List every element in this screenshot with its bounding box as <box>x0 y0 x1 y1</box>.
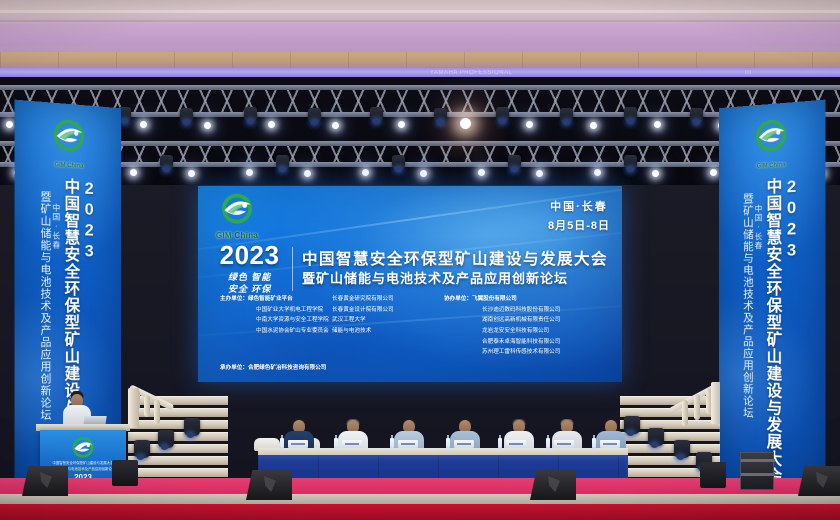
moving-head-light <box>370 107 383 122</box>
moving-head-light <box>392 155 405 170</box>
event-headline-1: 中国智慧安全环保型矿山建设与发展大会 <box>302 251 608 269</box>
stage-spotlight <box>362 169 369 176</box>
screen-title-row: 2023 绿色 智能 安全 环保 中国智慧安全环保型矿山建设与发展大会 暨矿山储… <box>216 242 608 295</box>
stage-side-box <box>112 460 138 486</box>
stage-monitor-speaker <box>22 466 68 496</box>
stage-spotlight <box>526 121 533 128</box>
right-banner-text: 2023 中国智慧安全环保型矿山建设与发展大会 中国·长春 暨矿山储能与电池技术… <box>719 175 826 494</box>
stage-spotlight <box>654 121 661 128</box>
moving-head-light <box>160 155 173 170</box>
name-card <box>454 440 474 448</box>
gim-swoosh-icon <box>70 436 96 462</box>
dark-hall-area <box>0 77 840 190</box>
truss-rail-bottom <box>0 162 840 167</box>
water-bottle <box>546 438 550 449</box>
moving-head-light <box>308 108 321 123</box>
equipment-road-case <box>740 452 774 490</box>
led-strip-text-right: III <box>745 69 752 77</box>
stage-spotlight <box>6 121 13 128</box>
upper-wall-band <box>0 52 840 68</box>
stage-moving-light <box>674 440 690 458</box>
stage-spotlight <box>590 122 597 129</box>
screen-place-date: 中国·长春 8月5日-8日 <box>548 198 610 233</box>
left-staircase <box>128 382 228 477</box>
host-item: 绿色智能矿业平台 <box>248 296 293 302</box>
cohost-item: 龙岩龙安安全科技有限公司 <box>444 326 594 337</box>
stage-monitor-speaker <box>246 470 292 500</box>
moving-head-light <box>496 107 509 122</box>
stage-moving-light <box>134 440 150 458</box>
cohost-label: 协办单位：飞翼股份有限公司 <box>444 294 594 305</box>
event-city: 中国·长春 <box>548 198 610 214</box>
water-bottle <box>592 438 596 449</box>
cohost-label-text: 协办单位： <box>444 296 472 302</box>
ceiling-molding-line <box>0 10 840 13</box>
stage-spotlight <box>398 121 405 128</box>
host-label-text: 主办单位： <box>220 296 248 302</box>
cohost-item: 飞翼股份有限公司 <box>472 296 517 302</box>
organizer-row: 承办单位：合肥绿色矿冶科技咨询有限公司 <box>220 363 608 374</box>
stage-monitor-speaker <box>530 470 576 500</box>
banner-logo-right: GIM China <box>745 116 797 170</box>
host-column-2: 长春黄金研究院有限公司 长春黄金设计院有限公司 武汉工程大学 储能与电池技术 <box>332 294 444 358</box>
event-date: 8月5日-8日 <box>548 217 610 233</box>
screen-headlines: 中国智慧安全环保型矿山建设与发展大会 暨矿山储能与电池技术及产品应用创新论坛 <box>302 251 608 287</box>
ceiling-purple-glow <box>0 24 840 46</box>
right-banner-place: 中国·长春 <box>754 178 762 489</box>
host-item: 长春黄金设计院有限公司 <box>332 305 444 316</box>
right-banner-headline-2: 暨矿山储能与电池技术及产品应用创新论坛 <box>742 179 752 489</box>
cohost-item: 长沙迪迈数码科技股份有限公司 <box>444 305 594 316</box>
water-bottle <box>280 438 284 449</box>
moving-head-light <box>180 108 193 123</box>
conference-stage-scene: YAMAHA PROFESSIONAL III <box>0 0 840 520</box>
stage-monitor-speaker <box>798 466 840 496</box>
moving-head-light <box>624 155 637 170</box>
right-vertical-banner: GIM China 2023 中国智慧安全环保型矿山建设与发展大会 中国·长春 … <box>719 100 826 499</box>
stage-spotlight <box>130 169 137 176</box>
moving-head-light <box>624 107 637 122</box>
stage-spotlight <box>710 169 717 176</box>
screen-year-block: 2023 绿色 智能 安全 环保 <box>216 242 283 295</box>
stage-spotlight <box>188 170 195 177</box>
cohost-item: 合肥泰禾卓海智能科技有限公司 <box>444 337 594 348</box>
name-card <box>600 440 620 448</box>
moving-head-light <box>276 155 289 170</box>
stage-spotlight <box>246 169 253 176</box>
right-banner-headline-1: 中国智慧安全环保型矿山建设与发展大会 <box>764 178 780 491</box>
name-card <box>288 440 308 448</box>
banner-logo-cn-left: China <box>67 163 83 170</box>
ceiling-led-strip <box>0 68 840 77</box>
stage-spotlight <box>652 170 659 177</box>
stage-spotlight <box>478 169 485 176</box>
water-bottle <box>334 438 338 449</box>
truss-lattice-lower <box>0 146 840 162</box>
host-item: 中国矿业大学机电工程学院 <box>220 305 332 316</box>
ceiling <box>0 0 840 52</box>
cohost-item: 苏州理工雷科传感技术有限公司 <box>444 347 594 358</box>
cohost-item: 湖南创远高新机械有限责任公司 <box>444 315 594 326</box>
water-bottle <box>498 438 502 449</box>
name-card <box>554 440 574 448</box>
water-bottle <box>446 438 450 449</box>
event-headline-2: 暨矿山储能与电池技术及产品应用创新论坛 <box>302 272 608 287</box>
host-item: 中南大学资源与安全工程学院 <box>220 315 332 326</box>
stage-moving-light <box>158 430 174 448</box>
moving-head-light <box>508 155 521 170</box>
ceiling-molding-line-2 <box>0 20 840 22</box>
name-card <box>342 440 362 448</box>
gim-logo-en: GIM <box>216 231 232 240</box>
stage-spotlight-bright <box>460 118 471 129</box>
event-slogan: 绿色 智能 安全 环保 <box>216 271 283 295</box>
stage-spotlight <box>536 170 543 177</box>
screen-gim-logo: GIM China <box>208 192 266 240</box>
host-item: 中国水泥协会矿山专业委员会 <box>220 326 332 337</box>
stage-spotlight <box>332 122 339 129</box>
slogan-line-1: 绿色 智能 <box>216 271 283 283</box>
stage-moving-light <box>648 428 664 446</box>
stage-spotlight <box>304 170 311 177</box>
right-banner-year: 2023 <box>781 176 801 492</box>
moving-head-light <box>244 107 257 122</box>
moving-head-light <box>560 108 573 123</box>
stage-spotlight <box>594 169 601 176</box>
name-card <box>398 440 418 448</box>
gim-swoosh-icon <box>218 192 256 230</box>
host-item: 长春黄金研究院有限公司 <box>332 294 444 305</box>
organizer-label: 承办单位： <box>220 365 248 371</box>
water-bottle <box>390 438 394 449</box>
moving-head-light <box>434 108 447 123</box>
gim-swoosh-icon <box>49 117 88 160</box>
moving-head-light <box>690 108 703 123</box>
gim-swoosh-icon <box>752 117 791 160</box>
gim-logo-text: GIM China <box>208 231 266 240</box>
red-carpet <box>0 504 840 520</box>
host-item: 武汉工程大学 <box>332 315 444 326</box>
stage-spotlight <box>140 121 147 128</box>
stage-side-box <box>700 462 726 488</box>
stage-spotlight <box>204 122 211 129</box>
host-label: 主办单位：绿色智能矿业平台 <box>220 294 332 305</box>
stage-spotlight <box>420 170 427 177</box>
host-column-1: 主办单位：绿色智能矿业平台 中国矿业大学机电工程学院 中南大学资源与安全工程学院… <box>220 294 332 358</box>
gim-logo-cn: China <box>234 231 258 240</box>
screen-organizer-block: 主办单位：绿色智能矿业平台 中国矿业大学机电工程学院 中南大学资源与安全工程学院… <box>220 294 608 373</box>
organizer-grid: 主办单位：绿色智能矿业平台 中国矿业大学机电工程学院 中南大学资源与安全工程学院… <box>220 294 608 358</box>
banner-logo-en-right: GIM <box>757 163 768 170</box>
stage-moving-light <box>184 418 200 436</box>
banner-logo-left: GIM China <box>43 116 95 170</box>
banner-logo-cn-right: China <box>769 162 785 169</box>
organizer-value: 合肥绿色矿冶科技咨询有限公司 <box>248 365 326 371</box>
table-items <box>258 438 628 450</box>
stage-spotlight <box>268 121 275 128</box>
host-item: 储能与电池技术 <box>332 326 444 337</box>
title-divider <box>292 247 293 291</box>
event-year: 2023 <box>216 242 283 268</box>
cohost-column: 协办单位：飞翼股份有限公司 长沙迪迈数码科技股份有限公司 湖南创远高新机械有限责… <box>444 294 594 358</box>
name-card <box>506 440 526 448</box>
banner-logo-en-left: GIM <box>55 162 66 169</box>
main-led-screen: GIM China 中国·长春 8月5日-8日 2023 绿色 智能 安全 环保… <box>198 186 622 382</box>
led-strip-text-left: YAMAHA PROFESSIONAL <box>430 69 512 77</box>
